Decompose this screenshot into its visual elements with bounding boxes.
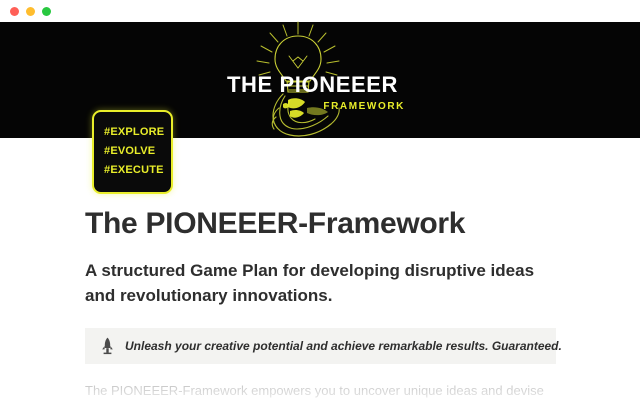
hashtag-execute: #EXECUTE [104,161,171,180]
logo-wordmark: THE PIONEEER FRAMEWORK [227,74,407,112]
maximize-window-button[interactable] [42,7,51,16]
hero-banner: THE PIONEEER FRAMEWORK #EXPLORE #EVOLVE … [0,22,640,138]
traffic-light-group [0,7,51,16]
close-window-button[interactable] [10,7,19,16]
hashtag-evolve: #EVOLVE [104,142,171,161]
hashtag-badge-box: #EXPLORE #EVOLVE #EXECUTE [92,110,173,194]
logo-title: THE PIONEEER [227,74,407,96]
minimize-window-button[interactable] [26,7,35,16]
hashtag-explore: #EXPLORE [104,123,171,142]
rocket-icon [99,337,116,355]
callout-text: Unleash your creative potential and achi… [125,339,562,353]
callout-banner: Unleash your creative potential and achi… [85,328,556,364]
page-subtitle: A structured Game Plan for developing di… [85,258,535,308]
page-title: The PIONEEER-Framework [85,207,465,241]
logo-subtitle: FRAMEWORK [227,102,407,112]
body-paragraph: The PIONEEER-Framework empowers you to u… [85,381,555,400]
